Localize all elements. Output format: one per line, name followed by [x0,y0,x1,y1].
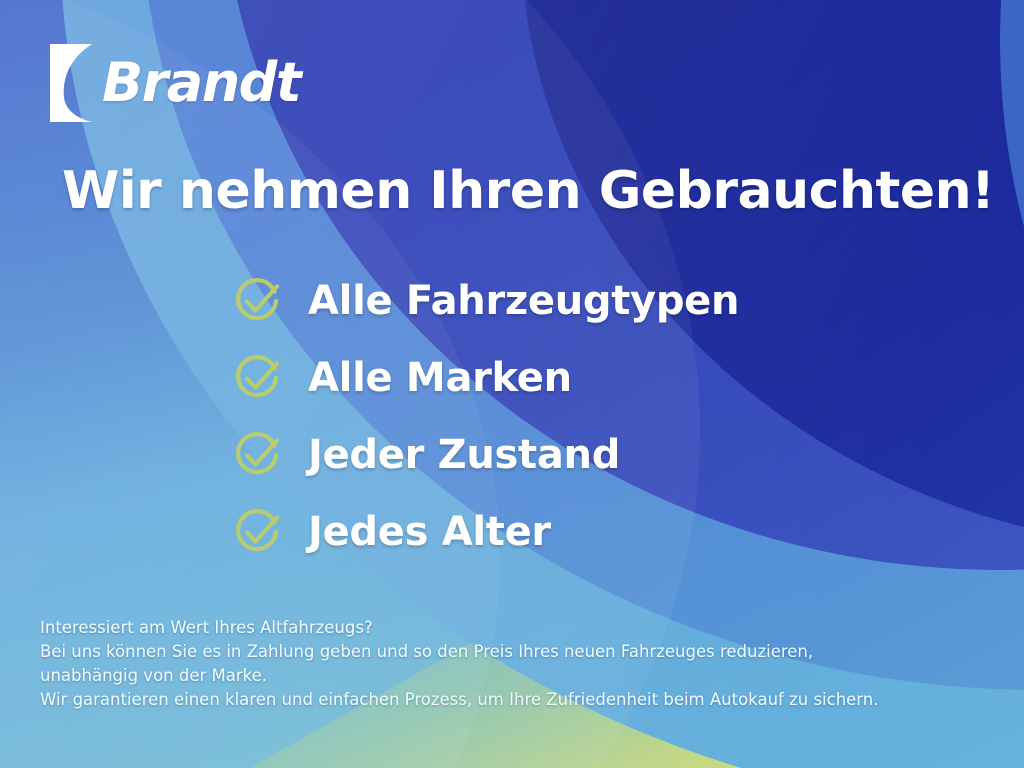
blurb-line-3: unabhängig von der Marke. [40,664,980,688]
blurb-line-2: Bei uns können Sie es in Zahlung geben u… [40,640,980,664]
feature-label: Jeder Zustand [308,435,620,475]
brand-name: Brandt [102,56,300,110]
promo-banner: Brandt Wir nehmen Ihren Gebrauchten! All… [0,0,1024,768]
banner-content: Brandt Wir nehmen Ihren Gebrauchten! All… [0,0,1024,768]
blurb-line-1: Interessiert am Wert Ihres Altfahrzeugs? [40,616,980,640]
blurb-paragraph: Interessiert am Wert Ihres Altfahrzeugs?… [40,616,980,712]
headline: Wir nehmen Ihren Gebrauchten! [62,163,994,220]
feature-item: Jedes Alter [232,493,739,570]
bracket-arc-logo-icon [50,44,92,122]
check-circle-icon [232,429,284,481]
feature-label: Jedes Alter [308,512,551,552]
blurb-line-4: Wir garantieren einen klaren und einfach… [40,688,980,712]
feature-label: Alle Fahrzeugtypen [308,281,739,321]
feature-item: Alle Marken [232,339,739,416]
feature-list: Alle Fahrzeugtypen Alle Marken Jeder Zus… [232,262,739,570]
check-circle-icon [232,352,284,404]
feature-label: Alle Marken [308,358,572,398]
brand-logo: Brandt [50,44,300,122]
check-circle-icon [232,506,284,558]
check-circle-icon [232,275,284,327]
feature-item: Jeder Zustand [232,416,739,493]
feature-item: Alle Fahrzeugtypen [232,262,739,339]
